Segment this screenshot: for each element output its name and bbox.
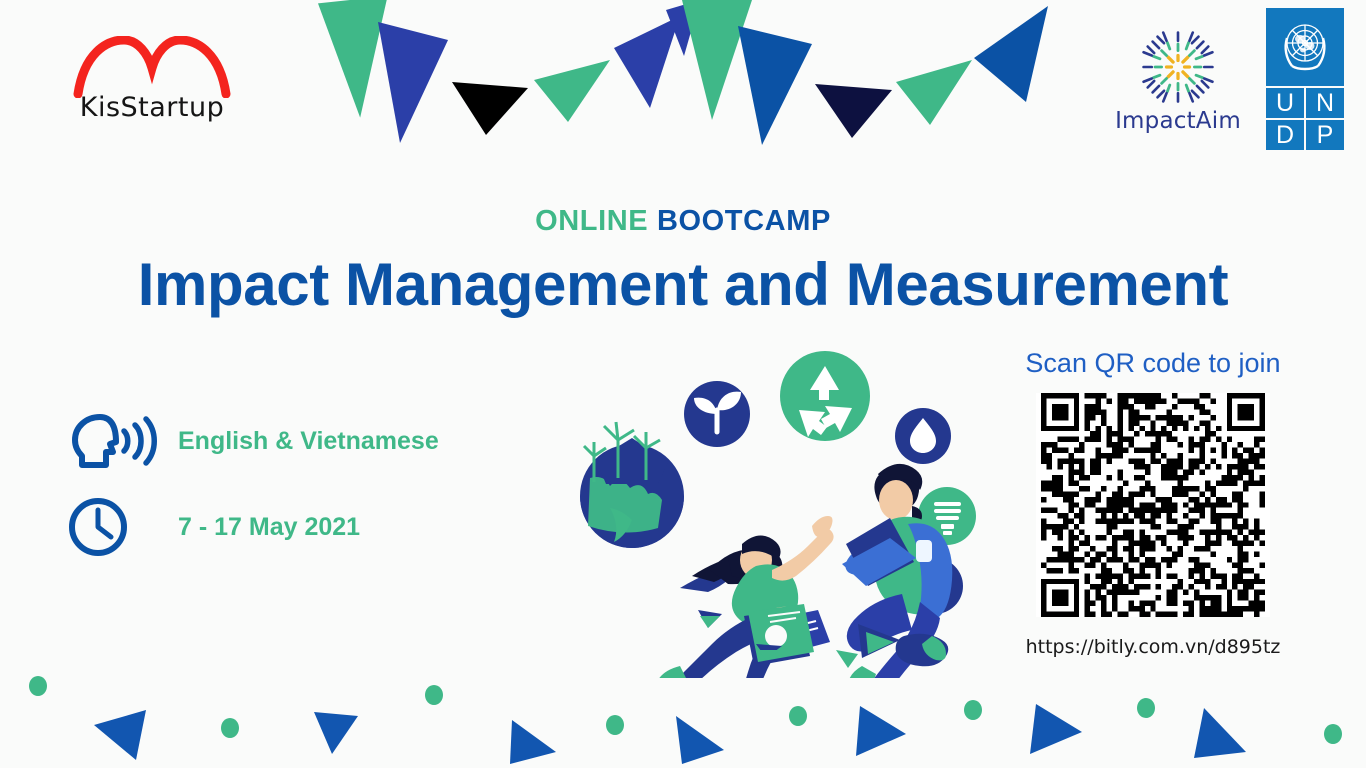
speaking-head-icon [66, 411, 178, 471]
bunting-flag [378, 22, 448, 143]
deco-triangle [856, 706, 906, 756]
sprout-icon [684, 381, 750, 447]
deco-triangle [1194, 708, 1246, 758]
bunting-flag [614, 16, 680, 108]
recycle-icon [780, 351, 870, 441]
deco-dot [789, 706, 807, 726]
kisstartup-arch-icon [72, 36, 232, 98]
event-details: English & Vietnamese 7 - 17 May 2021 [66, 398, 586, 570]
undp-letter-u: U [1266, 88, 1304, 118]
kicker-online: ONLINE [535, 205, 648, 237]
deco-dot [29, 676, 47, 696]
poster-canvas: KisStartup [0, 0, 1366, 768]
page-title: Impact Management and Measurement [0, 250, 1366, 319]
bunting-flag [815, 84, 892, 138]
deco-triangle [510, 720, 556, 764]
deco-dot [1137, 698, 1155, 718]
un-emblem-icon [1266, 8, 1344, 86]
deco-dot [221, 718, 239, 738]
bunting-flag [666, 0, 700, 56]
globe-wind-turbines-icon [580, 422, 684, 548]
undp-logo: U N D P [1266, 8, 1344, 150]
qr-section: Scan QR code to join https://bitly.com.v… [1008, 348, 1298, 658]
kicker-bootcamp: BOOTCAMP [657, 205, 831, 237]
bunting-flag [896, 60, 972, 125]
detail-row-language: English & Vietnamese [66, 398, 586, 484]
bunting-flag [452, 82, 528, 135]
detail-row-date: 7 - 17 May 2021 [66, 484, 586, 570]
kisstartup-logo: KisStartup [62, 30, 242, 145]
bunting-flag [974, 6, 1048, 102]
floating-notebook-icon [744, 604, 814, 666]
undp-letter-grid: U N D P [1266, 88, 1344, 150]
bunting-flag [318, 0, 400, 121]
impactaim-logo: ImpactAim [1094, 8, 1262, 148]
deco-dot [606, 715, 624, 735]
deco-triangle [314, 712, 358, 754]
deco-triangle [676, 716, 724, 764]
deco-triangle [1030, 704, 1082, 754]
bunting-flag [738, 26, 812, 145]
qr-code[interactable] [1036, 393, 1270, 617]
deco-dot [425, 685, 443, 705]
undp-letter-d: D [1266, 120, 1304, 150]
impactaim-starburst-icon [1137, 26, 1219, 108]
bunting-flag [534, 60, 610, 122]
deco-triangle [94, 710, 146, 760]
clock-icon [66, 496, 178, 558]
undp-letter-p: P [1306, 120, 1344, 150]
undp-letter-n: N [1306, 88, 1344, 118]
water-drop-icon [895, 408, 951, 464]
event-kicker: ONLINE BOOTCAMP [0, 205, 1366, 238]
sustainability-illustration [560, 348, 990, 678]
impactaim-wordmark: ImpactAim [1094, 108, 1262, 134]
bunting-flag [682, 0, 752, 120]
kisstartup-wordmark: KisStartup [62, 92, 242, 123]
deco-dot [1324, 724, 1342, 744]
detail-label-language: English & Vietnamese [178, 427, 439, 456]
qr-title: Scan QR code to join [1008, 348, 1298, 379]
partner-logos: ImpactAim [1094, 8, 1344, 158]
detail-label-date: 7 - 17 May 2021 [178, 513, 360, 542]
qr-url[interactable]: https://bitly.com.vn/d895tz [1008, 636, 1298, 658]
deco-dot [964, 700, 982, 720]
